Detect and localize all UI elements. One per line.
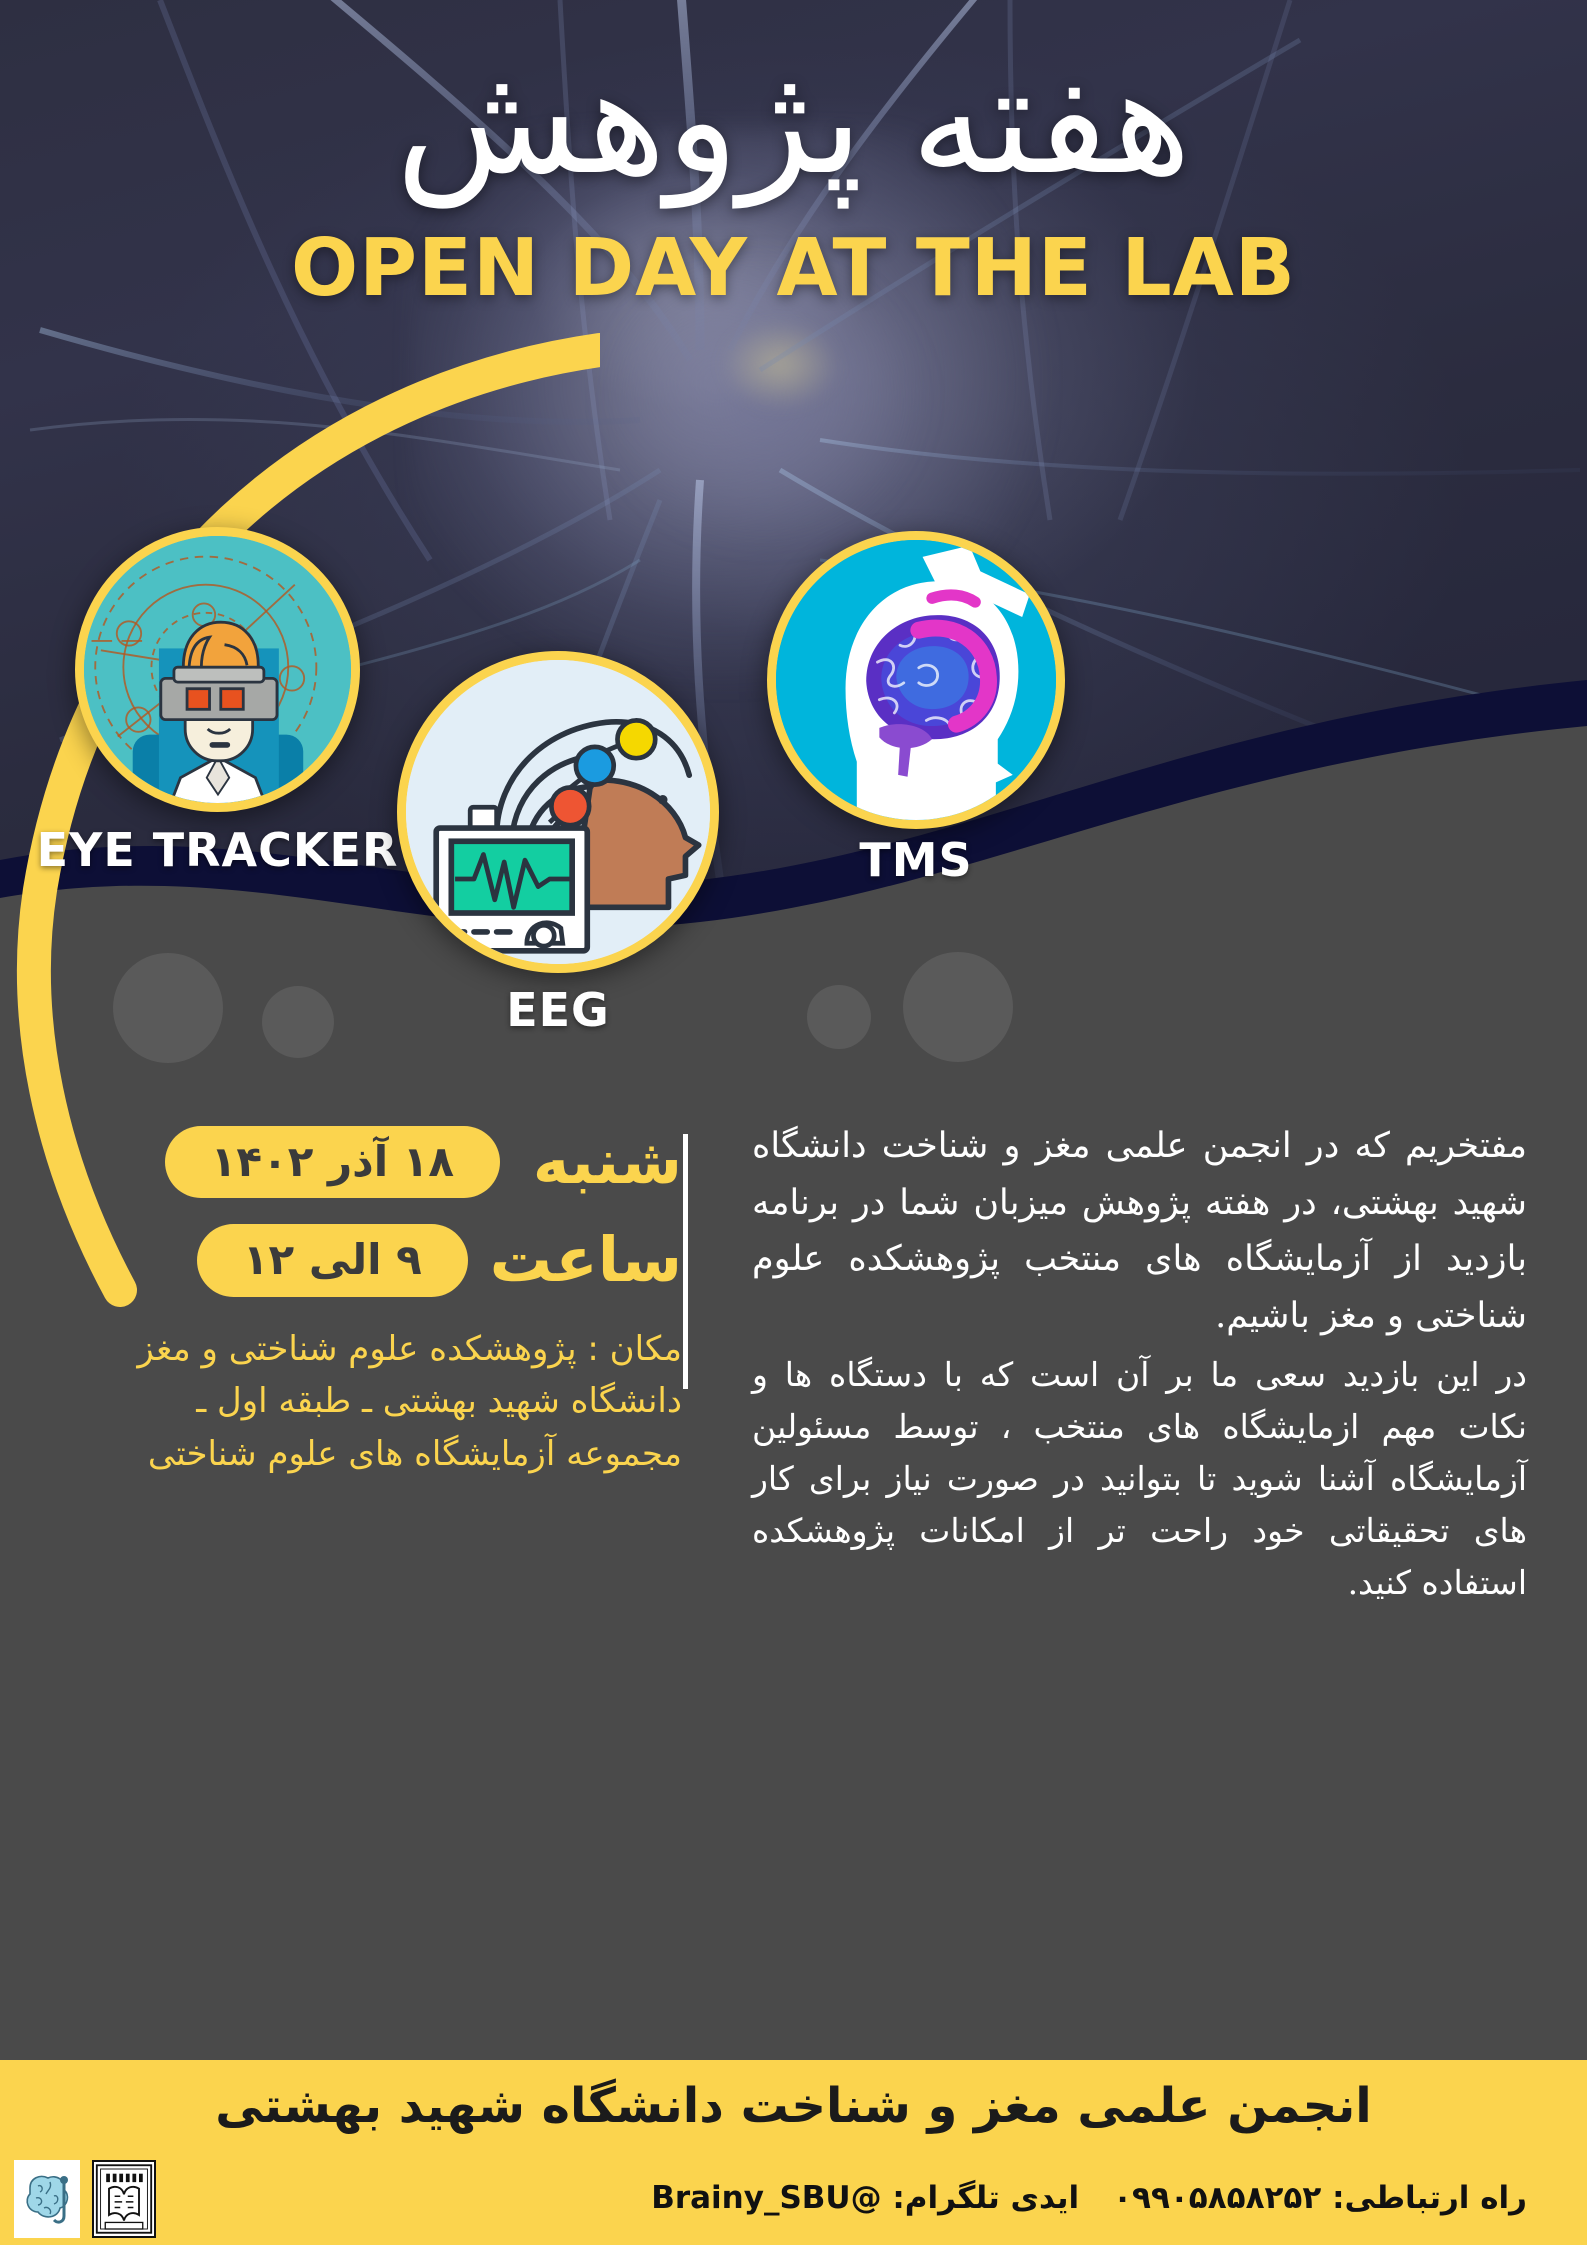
schedule-time-value: ۹ الی ۱۲ [197, 1224, 468, 1296]
schedule-time-label: ساعت [490, 1229, 682, 1291]
modality-caption-tms: TMS [859, 833, 972, 887]
footer-phone: راه ارتباطی: ۰۹۹۰۵۸۵۸۲۵۲ [1113, 2180, 1527, 2216]
association-band: انجمن علمی مغز و شناخت دانشگاه شهید بهشت… [0, 2060, 1587, 2152]
footer-logos [14, 2160, 156, 2238]
modality-tms[interactable]: TMS [767, 531, 1065, 829]
shahid-beheshti-university-logo [92, 2160, 156, 2238]
footer-telegram-label: ایدی تلگرام: [892, 2180, 1079, 2216]
footer-phone-label: راه ارتباطی: [1332, 2180, 1527, 2216]
modality-eye-tracker[interactable]: EYE TRACKER [75, 527, 360, 812]
brainy-sbu-association-logo [14, 2160, 80, 2238]
decor-circle-3 [807, 985, 871, 1049]
decor-circle-2 [262, 986, 334, 1058]
schedule-day-value: ۱۸ آذر ۱۴۰۲ [165, 1126, 500, 1198]
tms-brain-icon [767, 531, 1065, 829]
vertical-divider [683, 1134, 688, 1389]
footer-contact: راه ارتباطی: ۰۹۹۰۵۸۵۸۲۵۲ ایدی تلگرام: @B… [651, 2180, 1527, 2216]
schedule-time-row: ساعت ۹ الی ۱۲ [62, 1224, 682, 1296]
body-section: مفتخریم که در انجمن علمی مغز و شناخت دان… [0, 1100, 1587, 2090]
poster-root: هفته پژوهش OPEN DAY AT THE LAB [0, 0, 1587, 2245]
eye-tracker-icon [75, 527, 360, 812]
footer-bar: راه ارتباطی: ۰۹۹۰۵۸۵۸۲۵۲ ایدی تلگرام: @B… [0, 2152, 1587, 2245]
modality-caption-eeg: EEG [506, 983, 610, 1037]
eeg-machine-icon [397, 651, 719, 973]
page-title-fa: هفته پژوهش [0, 28, 1587, 216]
description-paragraph-1: مفتخریم که در انجمن علمی مغز و شناخت دان… [752, 1118, 1527, 1345]
modality-eeg[interactable]: EEG [397, 651, 719, 973]
decor-circle-1 [113, 953, 223, 1063]
footer-phone-value: ۰۹۹۰۵۸۵۸۲۵۲ [1113, 2180, 1321, 2216]
decor-circle-4 [903, 952, 1013, 1062]
schedule-venue: مکان : پژوهشکده علوم شناختی و مغز دانشگا… [122, 1323, 682, 1481]
footer-telegram-handle[interactable]: @Brainy_SBU [651, 2180, 881, 2216]
description-block: مفتخریم که در انجمن علمی مغز و شناخت دان… [752, 1118, 1527, 1611]
association-band-text: انجمن علمی مغز و شناخت دانشگاه شهید بهشت… [215, 2078, 1371, 2134]
page-title-en: OPEN DAY AT THE LAB [0, 222, 1587, 314]
schedule-day-label: شنبه [522, 1131, 682, 1193]
schedule-day-row: شنبه ۱۸ آذر ۱۴۰۲ [62, 1126, 682, 1198]
modality-caption-eye-tracker: EYE TRACKER [37, 823, 399, 877]
footer-telegram[interactable]: ایدی تلگرام: @Brainy_SBU [651, 2180, 1079, 2216]
description-paragraph-2: در این بازدید سعی ما بر آن است که با دست… [752, 1349, 1527, 1610]
schedule-block: شنبه ۱۸ آذر ۱۴۰۲ ساعت ۹ الی ۱۲ مکان : پژ… [62, 1126, 682, 1481]
